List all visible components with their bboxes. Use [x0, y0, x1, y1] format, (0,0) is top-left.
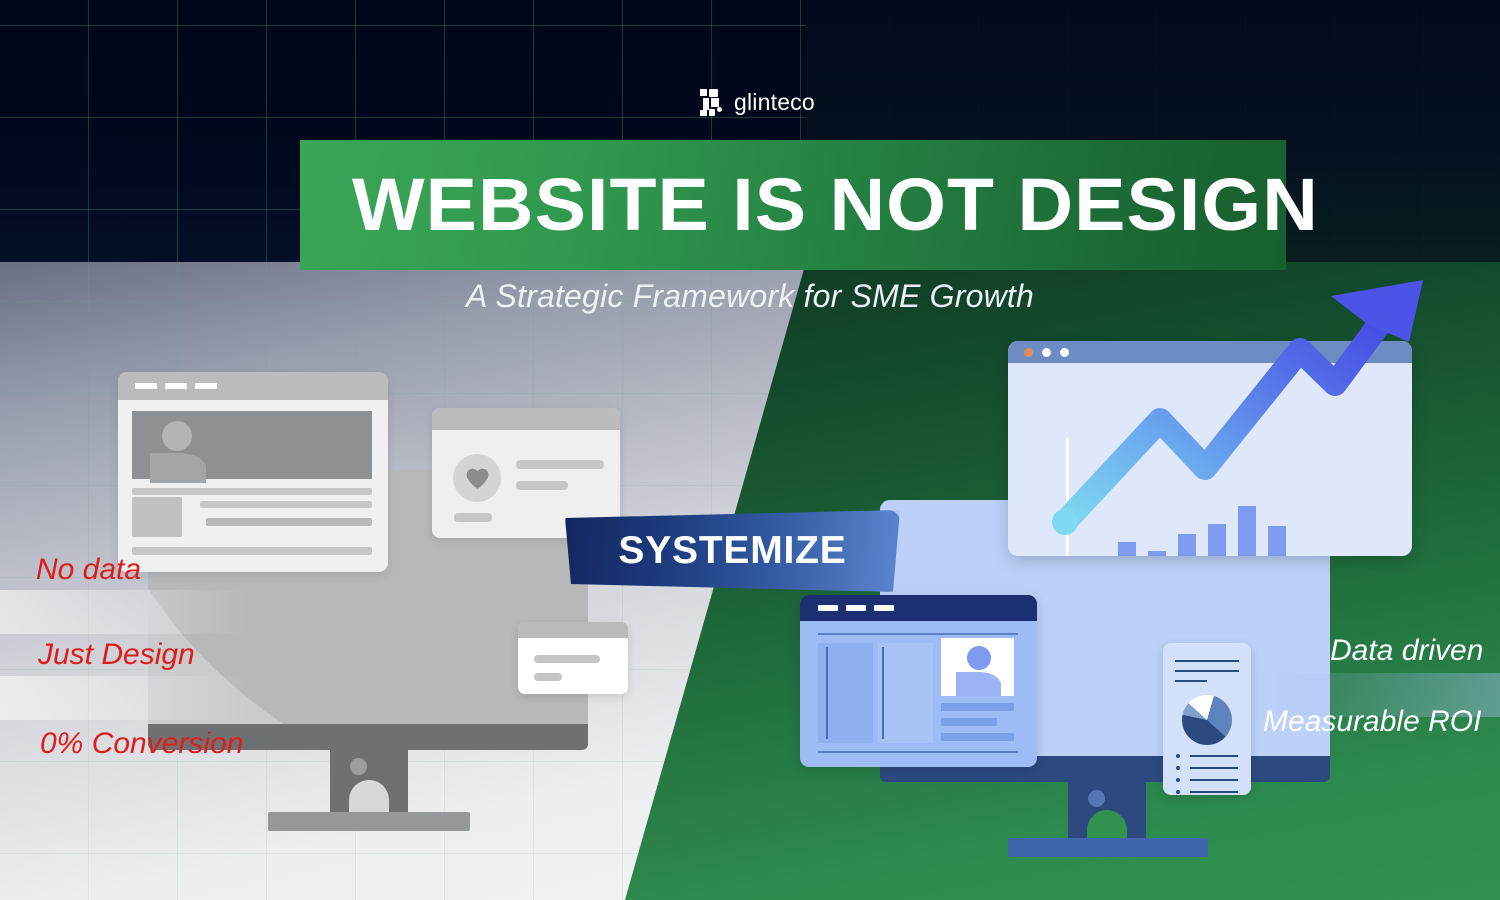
growth-arrow-icon — [1035, 272, 1425, 562]
report-list-line — [1190, 767, 1238, 769]
modern-panel-rule — [826, 647, 828, 739]
legacy-text-line — [516, 460, 604, 469]
modern-panel-rule — [882, 647, 884, 739]
systemize-badge-label: SYSTEMIZE — [618, 529, 846, 573]
legacy-hero-image — [132, 411, 372, 479]
legacy-text-line — [454, 513, 492, 522]
legacy-thumbnail — [132, 497, 182, 537]
label-bar-left — [0, 590, 250, 634]
legacy-browser-titlebar — [118, 372, 388, 400]
modern-monitor-base — [1008, 838, 1208, 857]
modern-monitor-indicator — [1088, 790, 1105, 807]
label-bar-left — [0, 676, 250, 720]
report-card — [1163, 643, 1251, 795]
modern-text-line — [941, 718, 997, 726]
report-bullet — [1176, 766, 1180, 770]
report-text-line — [1175, 680, 1207, 682]
avatar-shade-icon — [956, 672, 1001, 696]
negative-label-no-data: No data — [36, 553, 141, 587]
avatar-head-icon — [967, 646, 991, 670]
systemize-badge[interactable]: SYSTEMIZE — [565, 510, 900, 592]
report-text-line — [1175, 660, 1239, 662]
glinteco-g-mark-icon — [700, 89, 725, 116]
window-dash-2-icon — [165, 383, 187, 389]
report-bullet — [1176, 790, 1180, 794]
legacy-text-line — [132, 547, 372, 555]
legacy-text-line — [200, 501, 372, 508]
window-dash-3-icon — [874, 605, 894, 611]
modern-avatar-card — [941, 638, 1014, 696]
report-list-line — [1190, 791, 1238, 793]
modern-text-line — [941, 703, 1014, 711]
legacy-monitor-base — [268, 812, 470, 831]
window-dash-2-icon — [846, 605, 866, 611]
window-close-icon[interactable] — [1024, 348, 1033, 357]
avatar-head-icon — [162, 421, 192, 451]
pie-chart — [1182, 695, 1232, 745]
legacy-text-line — [534, 673, 562, 681]
modern-divider — [818, 751, 1018, 753]
brand-logo[interactable]: glinteco — [700, 84, 820, 120]
report-bullet — [1176, 778, 1180, 782]
legacy-monitor-neck-cutout — [349, 780, 389, 814]
title-banner: WEBSITE IS NOT DESIGN — [300, 140, 1286, 270]
legacy-monitor-indicator — [350, 758, 367, 775]
report-bullet — [1176, 754, 1180, 758]
modern-text-line — [941, 733, 1014, 741]
window-dash-1-icon — [818, 605, 838, 611]
report-list-line — [1190, 779, 1238, 781]
legacy-browser-window — [118, 372, 388, 572]
legacy-like-card-titlebar — [432, 408, 620, 430]
positive-label-data-driven: Data driven — [1330, 634, 1483, 668]
brand-name: glinteco — [734, 89, 815, 116]
modern-panel-mid — [878, 643, 933, 743]
poster-canvas: No data Just Design 0% Conversion Data d… — [0, 0, 1500, 900]
legacy-mini-card-titlebar — [518, 622, 628, 638]
positive-label-measurable-roi: Measurable ROI — [1263, 705, 1481, 739]
legacy-mini-card — [518, 622, 628, 694]
report-list-line — [1190, 755, 1238, 757]
modern-browser-window — [800, 595, 1037, 767]
negative-label-conversion: 0% Conversion — [40, 727, 243, 761]
legacy-text-line — [206, 518, 372, 526]
legacy-text-line — [132, 488, 372, 495]
negative-label-just-design: Just Design — [38, 638, 195, 672]
legacy-text-line — [516, 481, 568, 490]
report-text-line — [1175, 670, 1239, 672]
legacy-text-line — [534, 655, 600, 663]
heart-icon — [465, 467, 490, 490]
window-dash-1-icon — [135, 383, 157, 389]
window-dash-3-icon — [195, 383, 217, 389]
page-title: WEBSITE IS NOT DESIGN — [300, 168, 1319, 242]
avatar-shade-icon — [150, 453, 206, 483]
modern-divider — [818, 633, 1018, 635]
page-subtitle: A Strategic Framework for SME Growth — [0, 278, 1500, 315]
